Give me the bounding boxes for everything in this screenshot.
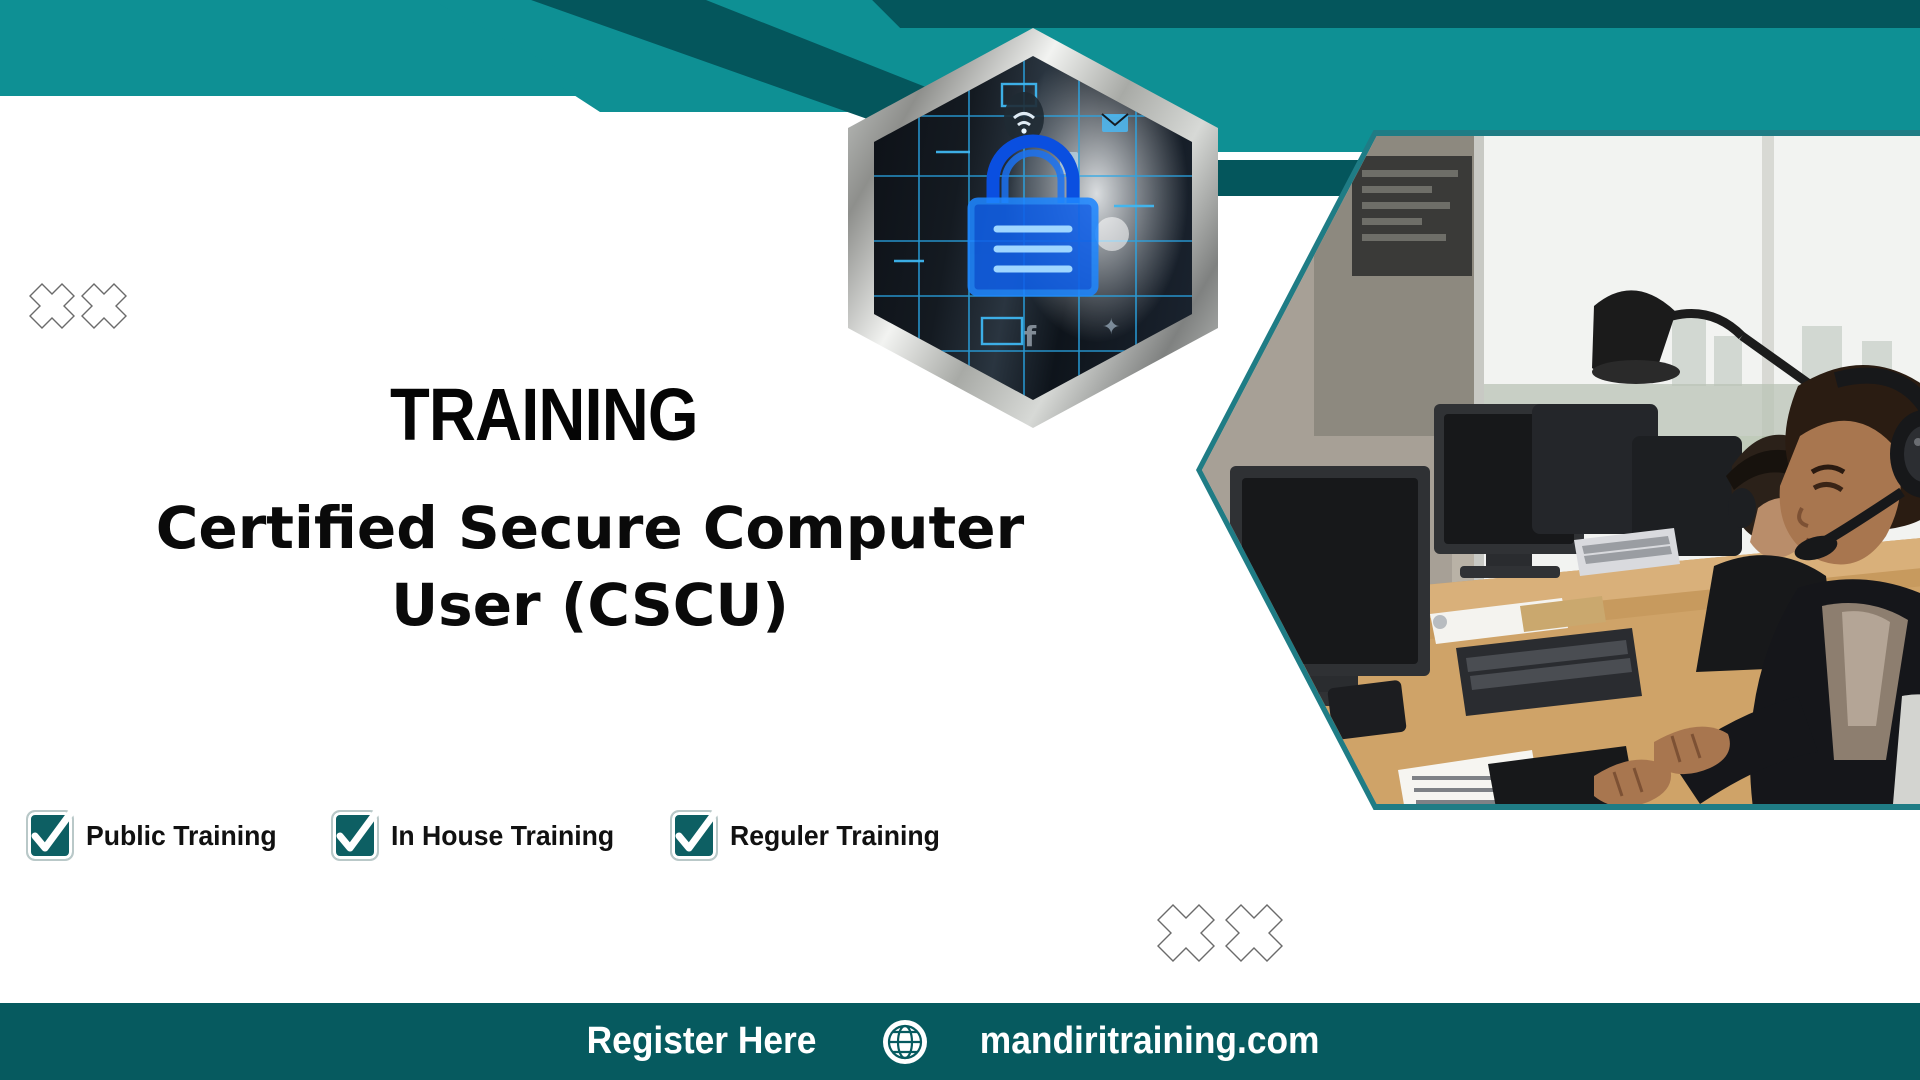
office-scene-illustration (1202, 136, 1920, 804)
page-title: Certified Secure Computer User (CSCU) (130, 490, 1050, 643)
footer-bar: Register Here mandiritraining.com (0, 1003, 1920, 1080)
svg-text:✦: ✦ (1102, 315, 1120, 340)
training-mode-item[interactable]: Reguler Training (672, 812, 951, 859)
page-title-line-2: User (CSCU) (130, 567, 1050, 644)
register-here-label[interactable]: Register Here (586, 1020, 816, 1063)
office-training-photo (1196, 130, 1920, 810)
checkbox-checked-icon[interactable] (333, 812, 377, 859)
training-mode-label: Reguler Training (730, 820, 940, 852)
svg-text:f: f (1024, 320, 1037, 353)
training-mode-item[interactable]: In House Training (333, 812, 626, 859)
x-mark-pair-bottom (1155, 902, 1285, 970)
page-kicker: TRAINING (390, 378, 698, 452)
globe-icon (881, 1018, 929, 1066)
checkbox-checked-icon[interactable] (672, 812, 716, 859)
website-url[interactable]: mandiritraining.com (980, 1020, 1320, 1063)
training-mode-label: In House Training (391, 820, 614, 852)
training-modes-list: Public Training In House Training Regule… (28, 812, 997, 859)
page-title-line-1: Certified Secure Computer (130, 490, 1050, 567)
training-mode-item[interactable]: Public Training (28, 812, 287, 859)
checkbox-checked-icon[interactable] (28, 812, 72, 859)
poster-canvas: f ✦ (0, 0, 1920, 1080)
training-mode-label: Public Training (86, 820, 277, 852)
cybersecurity-hexagon-image: f ✦ (848, 28, 1218, 428)
x-mark-pair-left (28, 282, 128, 338)
padlock-icon (945, 125, 1121, 303)
